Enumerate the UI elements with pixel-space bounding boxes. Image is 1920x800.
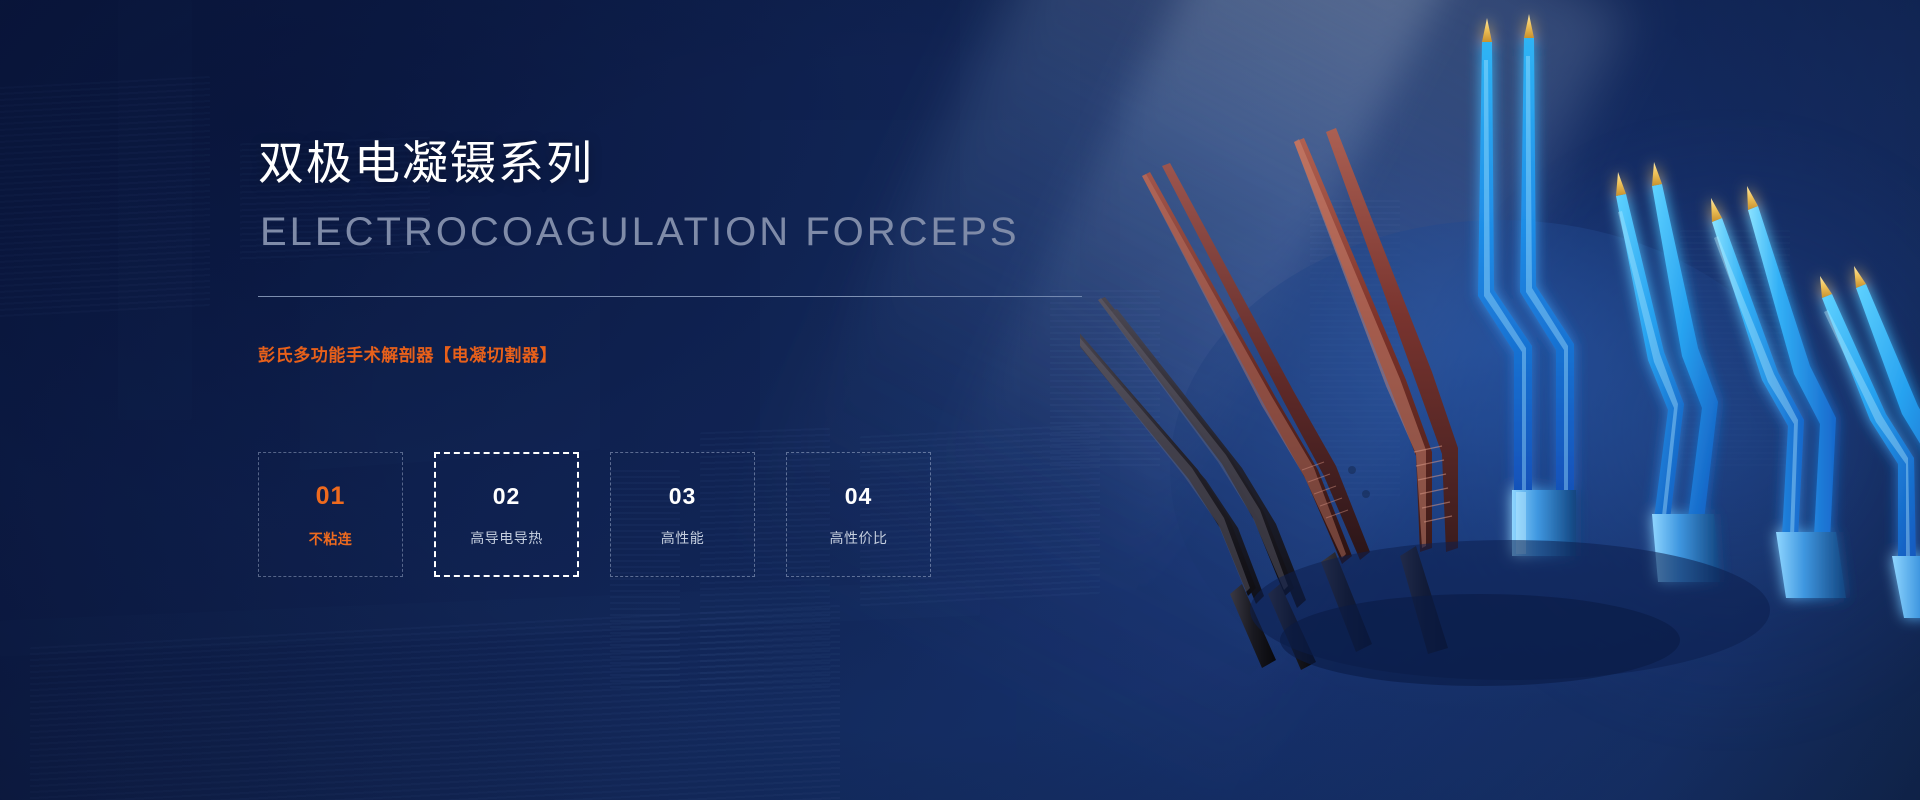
forceps-blue-2 [1616, 162, 1720, 582]
feature-label: 高性能 [661, 531, 705, 545]
feature-list: 01 不粘连 02 高导电导热 03 高性能 04 高性价比 [258, 452, 931, 577]
feature-item-04[interactable]: 04 高性价比 [786, 452, 931, 577]
title-divider [258, 296, 1082, 297]
feature-label: 高性价比 [830, 531, 888, 545]
feature-item-01[interactable]: 01 不粘连 [258, 452, 403, 577]
forceps-blue-4 [1820, 266, 1920, 618]
feature-number: 03 [669, 485, 697, 508]
page-title: 双极电凝镊系列 [258, 138, 594, 189]
page-subtitle-english: ELECTROCOAGULATION FORCEPS [260, 210, 1020, 254]
feature-item-02[interactable]: 02 高导电导热 [434, 452, 579, 577]
feature-number: 04 [845, 485, 873, 508]
forceps-red-1 [1142, 163, 1372, 652]
product-name-cn: 彭氏多功能手术解剖器【电凝切割器】 [258, 341, 557, 366]
feature-label: 不粘连 [309, 532, 353, 546]
feature-item-03[interactable]: 03 高性能 [610, 452, 755, 577]
feature-label: 高导电导热 [470, 531, 543, 545]
forceps-blue-1 [1478, 14, 1576, 556]
product-banner: 双极电凝镊系列 ELECTROCOAGULATION FORCEPS 彭氏多功能… [0, 0, 1920, 800]
banner-content: 双极电凝镊系列 ELECTROCOAGULATION FORCEPS 彭氏多功能… [258, 0, 1118, 800]
forceps-blue-3 [1711, 186, 1846, 598]
feature-number: 02 [493, 485, 521, 508]
right-glow [1420, 120, 1920, 740]
feature-number: 01 [316, 484, 346, 509]
forceps-red-2 [1294, 128, 1458, 654]
forceps-dark-2 [1098, 297, 1316, 670]
forceps-illustration [1080, 0, 1920, 800]
